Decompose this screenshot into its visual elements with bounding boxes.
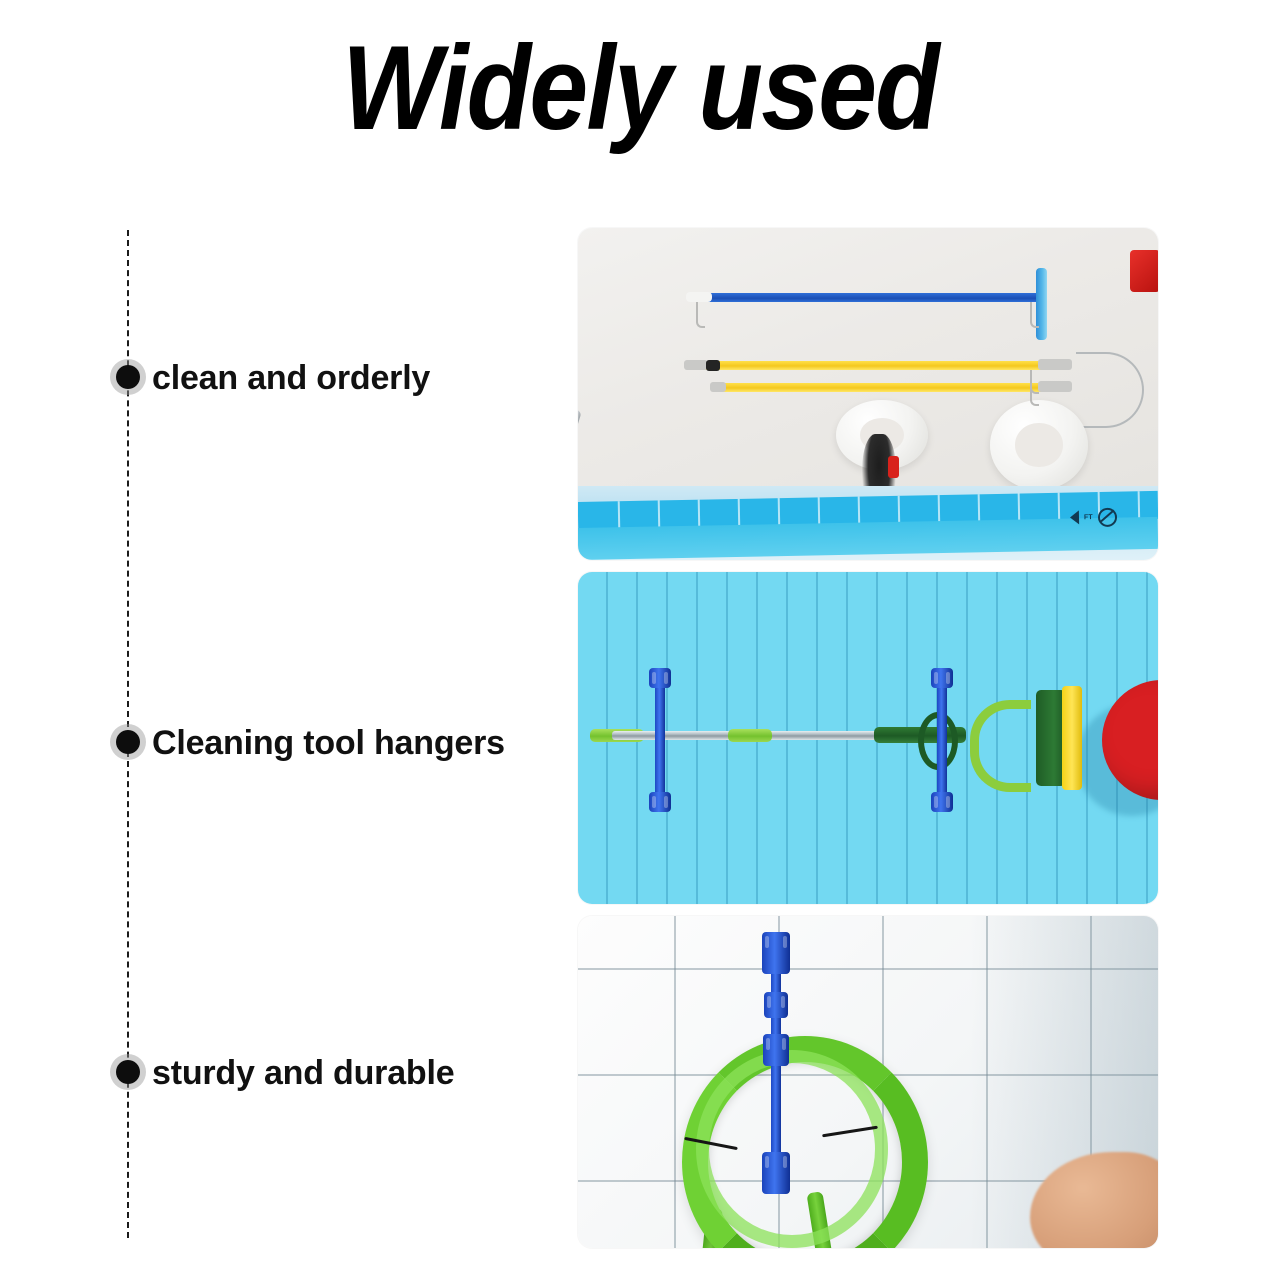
yellow-pole-ferrule [710,382,726,392]
hanger-jaw-top [649,668,671,688]
hanger-jaw-bottom [762,1152,790,1194]
hanger-clip-wall-mount[interactable] [754,926,798,1198]
hanger-jaw-top [762,932,790,974]
no-diving-icon [1097,507,1116,526]
yellow-pole-lower [714,383,1046,392]
wall-hook [696,302,705,328]
depth-unit-label: FT [1084,514,1093,521]
mop-yoke-arm [970,700,1031,792]
feature-label: sturdy and durable [152,1054,454,1093]
photo-pool-equipment-wall: FT [578,228,1158,560]
blue-pool-pole [690,293,1042,302]
bullet-point-icon [110,359,146,395]
hanger-clip-right[interactable] [922,668,962,812]
feature-label: clean and orderly [152,359,430,398]
yellow-pole-collar [706,360,720,371]
yellow-pole-ferrule [684,360,708,370]
yellow-pole-upper [688,361,1046,370]
hanger-strip [937,684,947,798]
mop-pole-grip [728,729,772,742]
red-equipment-item [1130,250,1158,292]
life-ring-right [990,400,1088,490]
hanger-jaw-middle-lower [763,1034,789,1066]
wall-hook [1030,302,1039,328]
bullet-point-icon [110,724,146,760]
yellow-pole-endcap [1038,381,1072,392]
wall-hook [1030,388,1039,406]
hanger-jaw-top [931,668,953,688]
blue-pole-tip [686,292,712,302]
depth-arrow-icon [1070,510,1079,524]
mop-sponge-blade [1062,686,1082,790]
hanger-strip [655,684,665,798]
photo-mop-hanger-slatwall [578,572,1158,904]
pool-depth-sign: FT [1070,507,1126,526]
yellow-pole-endcap [1038,359,1072,370]
hanger-jaw-bottom [931,792,953,812]
feature-label: Cleaning tool hangers [152,724,505,763]
bullet-point-icon [110,1054,146,1090]
red-whistle [888,456,899,478]
hanger-clip-left[interactable] [640,668,680,812]
feature-list: clean and orderly Cleaning tool hangers … [0,0,560,1280]
photo-hose-hanger-tilewall [578,916,1158,1248]
hanger-jaw-bottom [649,792,671,812]
hanger-jaw-middle-upper [764,992,788,1018]
